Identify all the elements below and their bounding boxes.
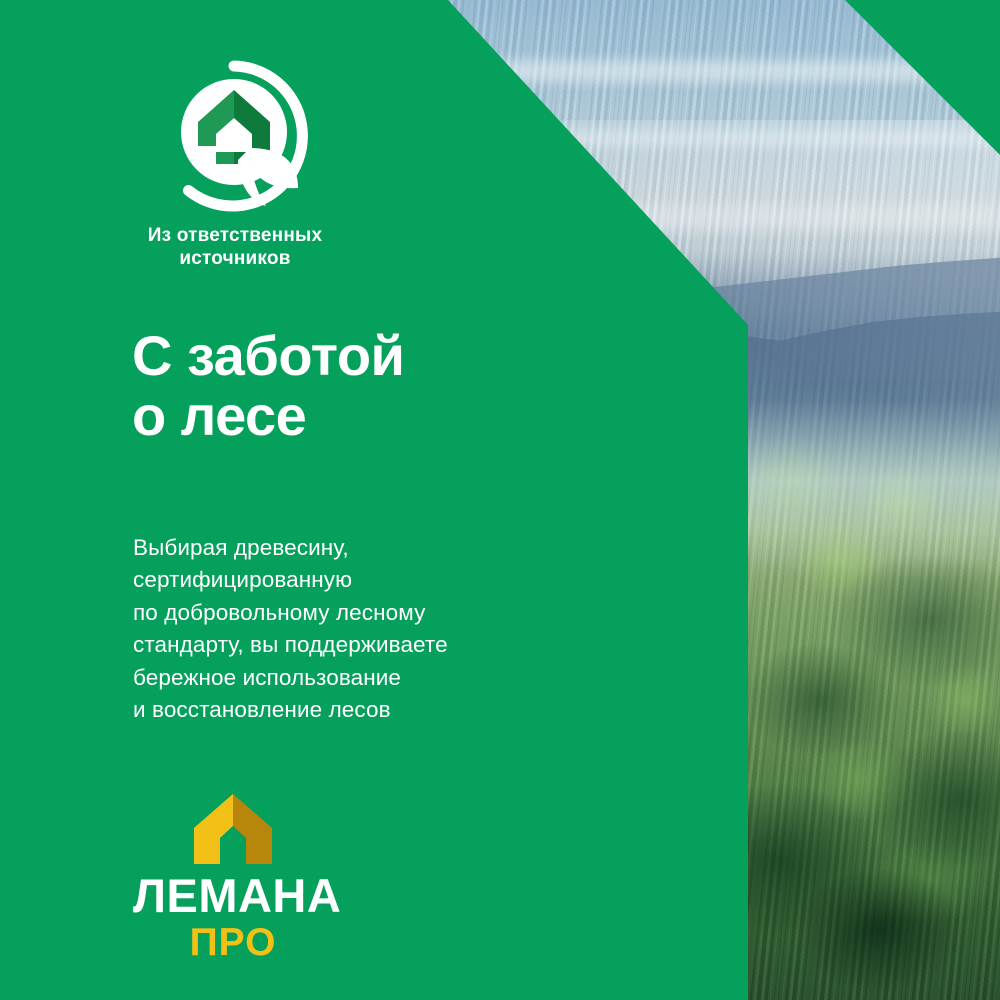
badge-caption-line1: Из ответственных [130, 224, 340, 247]
poster-content: Из ответственных источников С заботой о … [0, 0, 748, 1000]
body-line1: Выбирая древесину, [133, 532, 448, 564]
headline-line2: о лесе [132, 386, 404, 446]
badge-caption: Из ответственных источников [130, 224, 340, 270]
headline-line1: С заботой [132, 326, 404, 386]
responsible-sources-seal-icon [158, 60, 310, 212]
responsible-sources-badge: Из ответственных источников [130, 60, 390, 270]
body-line4: стандарту, вы поддерживаете [133, 629, 448, 661]
lemana-pro-logo: ЛЕМАНА ПРО [133, 792, 333, 962]
body-copy: Выбирая древесину, сертифицированную по … [133, 532, 448, 726]
body-line2: сертифицированную [133, 564, 448, 596]
body-line3: по добровольному лесному [133, 597, 448, 629]
body-line6: и восстановление лесов [133, 694, 448, 726]
pro-wordmark: ПРО [133, 923, 333, 962]
forest-care-poster: Из ответственных источников С заботой о … [0, 0, 1000, 1000]
lemana-wordmark: ЛЕМАНА [133, 872, 333, 919]
body-line5: бережное использование [133, 662, 448, 694]
badge-caption-line2: источников [130, 247, 340, 270]
lemana-house-icon [190, 792, 276, 866]
headline: С заботой о лесе [132, 326, 404, 447]
